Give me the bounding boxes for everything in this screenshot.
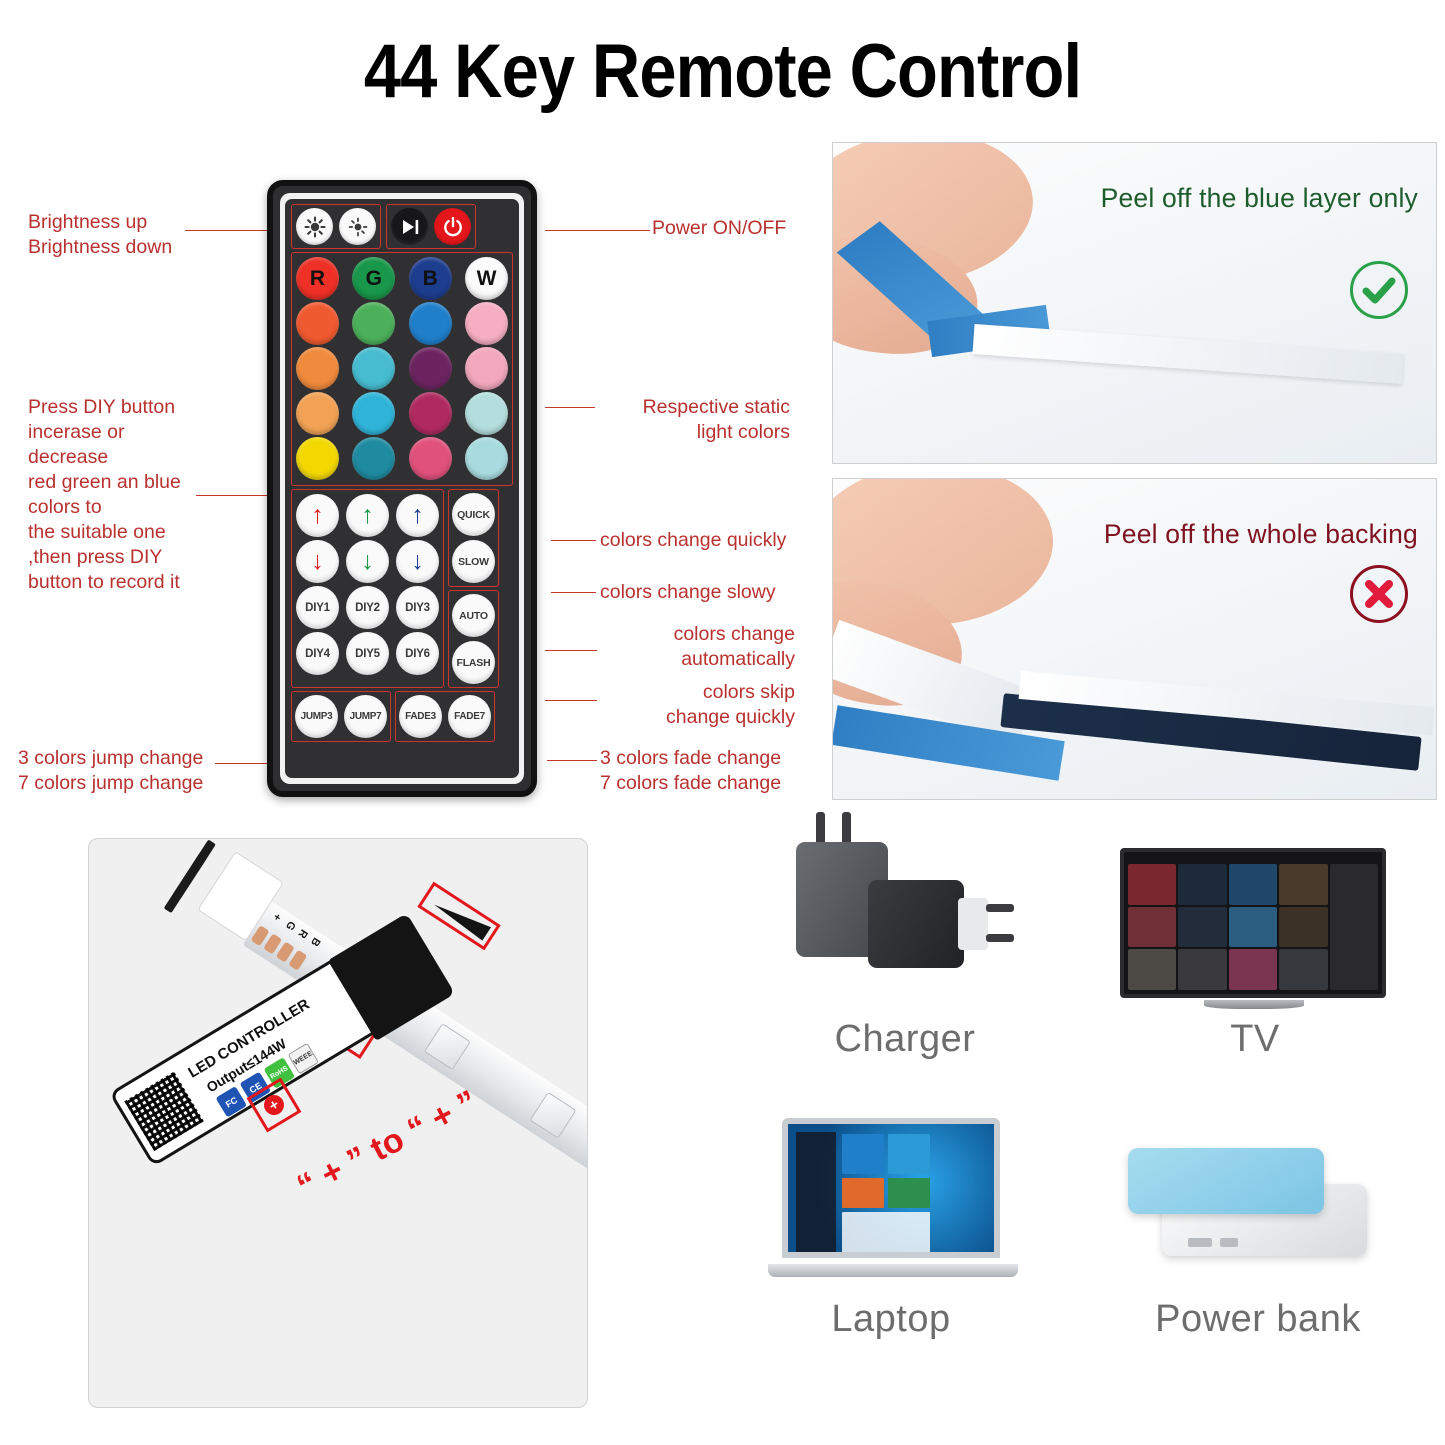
leader-power: [545, 230, 650, 231]
charger-eu-plug: [958, 898, 988, 950]
tv-stand: [1204, 1000, 1304, 1009]
arrow-down-blue-icon: ↓: [411, 549, 423, 574]
diy-and-arrow-group: ↑↑↑↓↓↓ DIY1DIY2DIY3DIY4DIY5DIY6: [291, 489, 444, 688]
strip-pad-g: G: [283, 919, 298, 933]
arrow-button-row: ↑↑↑: [296, 494, 439, 537]
play-pause-icon: [399, 217, 421, 237]
strip-pad-b: B: [308, 935, 322, 948]
charger-illustration: [790, 812, 1020, 1002]
qr-code: [124, 1071, 204, 1151]
leader-static-colors: [545, 407, 595, 408]
mode-button-group: AUTO FLASH: [448, 590, 499, 688]
annotation-brightness: Brightness up Brightness down: [28, 210, 172, 260]
function-button-row: [291, 204, 513, 249]
arrow-down-red-icon: ↓: [311, 549, 323, 574]
diy5-button[interactable]: DIY5: [346, 632, 389, 675]
color-button-r3c3[interactable]: [465, 392, 508, 435]
arrow-up-green-icon: ↑: [361, 503, 373, 528]
increase-blue-button[interactable]: ↑: [396, 494, 439, 537]
badge-weee: WEEE: [288, 1043, 320, 1075]
strip-pad-plus: +: [270, 911, 284, 923]
color-button-r[interactable]: R: [296, 257, 339, 300]
brightness-up-button[interactable]: [296, 208, 333, 245]
brightness-down-icon: [346, 215, 370, 239]
diy4-button[interactable]: DIY4: [296, 632, 339, 675]
remote-diagram: Brightness up Brightness down Press DIY …: [0, 150, 820, 830]
jump3-button[interactable]: JUMP3: [295, 695, 338, 738]
annotation-diy: Press DIY button incerase or decrease re…: [28, 395, 181, 595]
strip-pad-r: R: [295, 927, 309, 940]
color-button-r4c1[interactable]: [352, 437, 395, 480]
annotation-quick: colors change quickly: [600, 528, 786, 553]
diy-button-row: DIY4DIY5DIY6: [296, 632, 439, 675]
tv-illustration: [1108, 848, 1398, 1023]
laptop-illustration: [768, 1118, 1018, 1298]
charger-label: Charger: [760, 1018, 1050, 1061]
annotation-fade: 3 colors fade change 7 colors fade chang…: [600, 746, 781, 796]
color-button-r3c1[interactable]: [352, 392, 395, 435]
color-button-r2c1[interactable]: [352, 347, 395, 390]
color-button-r4c0[interactable]: [296, 437, 339, 480]
peel-instruction-2: Peel off the whole backing: [1104, 519, 1418, 550]
laptop-base: [768, 1264, 1018, 1277]
diy-button-row: DIY1DIY2DIY3: [296, 586, 439, 629]
decrease-blue-button[interactable]: ↓: [396, 540, 439, 583]
laptop-screen: [782, 1118, 1000, 1258]
check-icon: [1350, 261, 1408, 319]
color-button-b[interactable]: B: [409, 257, 452, 300]
controller-pin-r: R: [332, 996, 345, 1010]
brightness-group-outline: [291, 204, 381, 249]
leader-quick: [551, 540, 596, 541]
speed-button-group: QUICK SLOW: [448, 489, 499, 587]
color-button-w[interactable]: W: [465, 257, 508, 300]
leader-auto: [545, 650, 597, 651]
tv-screen: [1120, 848, 1386, 998]
color-button-row: [296, 392, 508, 435]
increase-red-button[interactable]: ↑: [296, 494, 339, 537]
controller-connection-panel: +GRB LED CONTROLLER Output≤144W FCCERoHS…: [88, 838, 588, 1408]
arrow-down-green-icon: ↓: [361, 549, 373, 574]
controller-pin-b: B: [342, 1013, 355, 1027]
color-button-r1c3[interactable]: [465, 302, 508, 345]
highlight-direction-arrow: [417, 882, 500, 951]
play-pause-button[interactable]: [391, 208, 428, 245]
quick-button[interactable]: QUICK: [452, 493, 495, 536]
cross-icon: [1350, 565, 1408, 623]
color-button-r1c2[interactable]: [409, 302, 452, 345]
diy3-button[interactable]: DIY3: [396, 586, 439, 629]
flash-button[interactable]: FLASH: [452, 641, 495, 684]
color-button-r3c2[interactable]: [409, 392, 452, 435]
color-button-r1c0[interactable]: [296, 302, 339, 345]
static-color-grid: RGBW: [291, 252, 513, 486]
increase-green-button[interactable]: ↑: [346, 494, 389, 537]
leader-slow: [551, 592, 596, 593]
power-bank-port: [1220, 1238, 1238, 1247]
color-button-r4c2[interactable]: [409, 437, 452, 480]
power-icon: [442, 216, 464, 238]
annotation-power: Power ON/OFF: [652, 216, 786, 241]
peel-instruction-1: Peel off the blue layer only: [1101, 183, 1418, 214]
controller-pin-g: G: [321, 978, 335, 993]
fade-button-group: FADE3 FADE7: [395, 691, 495, 742]
color-button-row: [296, 347, 508, 390]
brightness-down-button[interactable]: [339, 208, 376, 245]
power-bank-port: [1188, 1238, 1212, 1247]
fade3-button[interactable]: FADE3: [399, 695, 442, 738]
color-button-row: [296, 437, 508, 480]
badge-fc: FC: [216, 1086, 248, 1118]
peel-panel-incorrect: Peel off the whole backing: [832, 478, 1437, 800]
color-button-row: [296, 302, 508, 345]
leader-fade: [547, 760, 597, 761]
decrease-red-button[interactable]: ↓: [296, 540, 339, 583]
power-bank-label: Power bank: [1098, 1298, 1418, 1341]
led-chip: [530, 1092, 577, 1139]
annotation-auto: colors change automatically: [600, 622, 795, 672]
annotation-flash: colors skip change quickly: [600, 680, 795, 730]
tv-label: TV: [1110, 1018, 1400, 1061]
power-bank-blue: [1128, 1148, 1324, 1214]
brightness-up-icon: [303, 215, 327, 239]
diy2-button[interactable]: DIY2: [346, 586, 389, 629]
diy6-button[interactable]: DIY6: [396, 632, 439, 675]
led-chip: [424, 1023, 471, 1070]
power-button[interactable]: [434, 208, 471, 245]
page-title: 44 Key Remote Control: [87, 28, 1359, 115]
color-button-r1c1[interactable]: [352, 302, 395, 345]
color-button-row: RGBW: [296, 257, 508, 300]
auto-button[interactable]: AUTO: [452, 594, 495, 637]
color-button-r2c0[interactable]: [296, 347, 339, 390]
arrow-button-row: ↓↓↓: [296, 540, 439, 583]
annotation-static-colors: Respective static light colors: [600, 395, 790, 445]
leader-flash: [545, 700, 597, 701]
color-button-r4c3[interactable]: [465, 437, 508, 480]
color-button-r2c3[interactable]: [465, 347, 508, 390]
color-button-r2c2[interactable]: [409, 347, 452, 390]
peel-panel-correct: Peel off the blue layer only: [832, 142, 1437, 464]
arrow-up-red-icon: ↑: [311, 503, 323, 528]
arrow-up-blue-icon: ↑: [411, 503, 423, 528]
slow-button[interactable]: SLOW: [452, 540, 495, 583]
led-controller: LED CONTROLLER Output≤144W FCCERoHSWEEE …: [109, 955, 383, 1167]
color-button-g[interactable]: G: [352, 257, 395, 300]
charger-body-black: [868, 880, 964, 968]
annotation-jump: 3 colors jump change 7 colors jump chang…: [18, 746, 203, 796]
jump-button-group: JUMP3 JUMP7: [291, 691, 391, 742]
remote-control-body: RGBW ↑↑↑↓↓↓ DIY1DIY2DIY3DIY4DIY5DIY6 QUI…: [267, 180, 537, 797]
laptop-label: Laptop: [746, 1298, 1036, 1341]
color-button-r3c0[interactable]: [296, 392, 339, 435]
fade7-button[interactable]: FADE7: [448, 695, 491, 738]
diy1-button[interactable]: DIY1: [296, 586, 339, 629]
jump7-button[interactable]: JUMP7: [344, 695, 387, 738]
annotation-slow: colors change slowy: [600, 580, 776, 605]
power-group-outline: [386, 204, 476, 249]
decrease-green-button[interactable]: ↓: [346, 540, 389, 583]
power-bank-illustration: [1128, 1142, 1378, 1292]
